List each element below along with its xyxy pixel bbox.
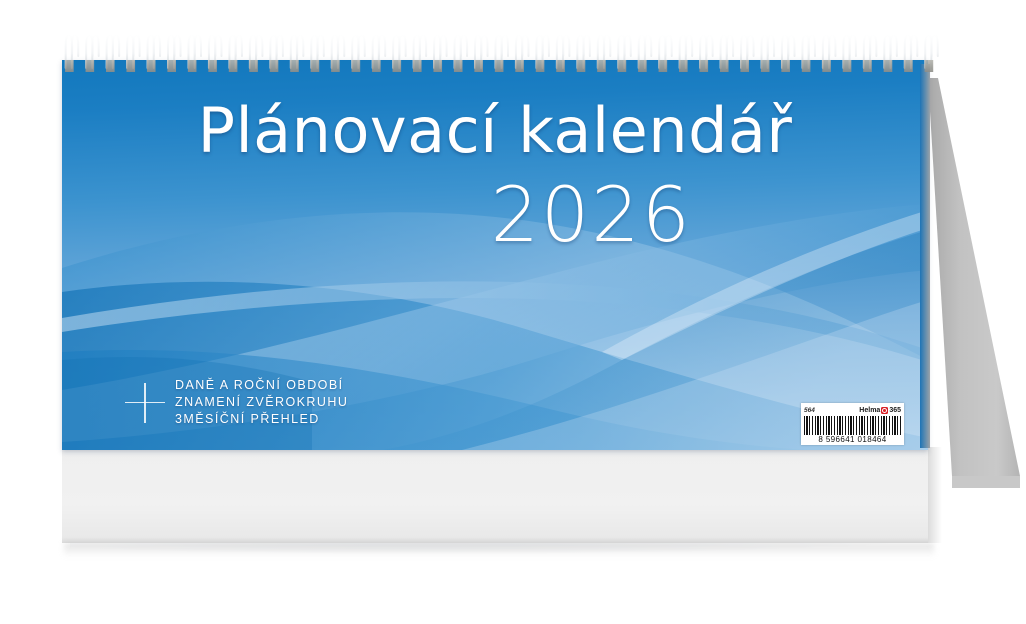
feature-lines: DANĚ A ROČNÍ OBDOBÍ ZNAMENÍ ZVĚROKRUHU 3… bbox=[175, 378, 348, 427]
calendar-cover: Plánovací kalendář 2026 DANĚ A ROČNÍ OBD… bbox=[62, 60, 928, 450]
barcode-number: 8 596641 018464 bbox=[804, 435, 901, 444]
feature-item-1: DANĚ A ROČNÍ OBDOBÍ bbox=[175, 378, 348, 393]
barcode-label: 564 Helma 365 8 596641 018464 bbox=[801, 403, 904, 445]
helma-red-badge-icon bbox=[881, 407, 888, 414]
product-code: 564 bbox=[804, 407, 815, 414]
plus-icon bbox=[125, 383, 165, 423]
year-label: 2026 bbox=[491, 170, 692, 259]
feature-item-3: 3MĚSÍČNÍ PŘEHLED bbox=[175, 412, 348, 427]
brand-name: Helma bbox=[859, 407, 880, 414]
ean13-barcode-icon bbox=[804, 416, 901, 435]
page-title: Plánovací kalendář bbox=[62, 94, 928, 167]
calendar-base-block bbox=[62, 447, 928, 543]
brand-suffix: 365 bbox=[889, 407, 901, 414]
spiral-loops bbox=[62, 26, 942, 72]
barcode-label-header: 564 Helma 365 bbox=[804, 405, 901, 415]
feature-list: DANĚ A ROČNÍ OBDOBÍ ZNAMENÍ ZVĚROKRUHU 3… bbox=[125, 378, 348, 427]
feature-item-2: ZNAMENÍ ZVĚROKRUHU bbox=[175, 395, 348, 410]
brand-logo: Helma 365 bbox=[859, 407, 901, 414]
wire-o-spiral-binding-icon bbox=[62, 26, 942, 72]
calendar-base-right-edge bbox=[928, 447, 942, 543]
calendar-mockup-scene: Plánovací kalendář 2026 DANĚ A ROČNÍ OBD… bbox=[0, 0, 1026, 624]
cover-right-fold-edge bbox=[920, 64, 930, 448]
